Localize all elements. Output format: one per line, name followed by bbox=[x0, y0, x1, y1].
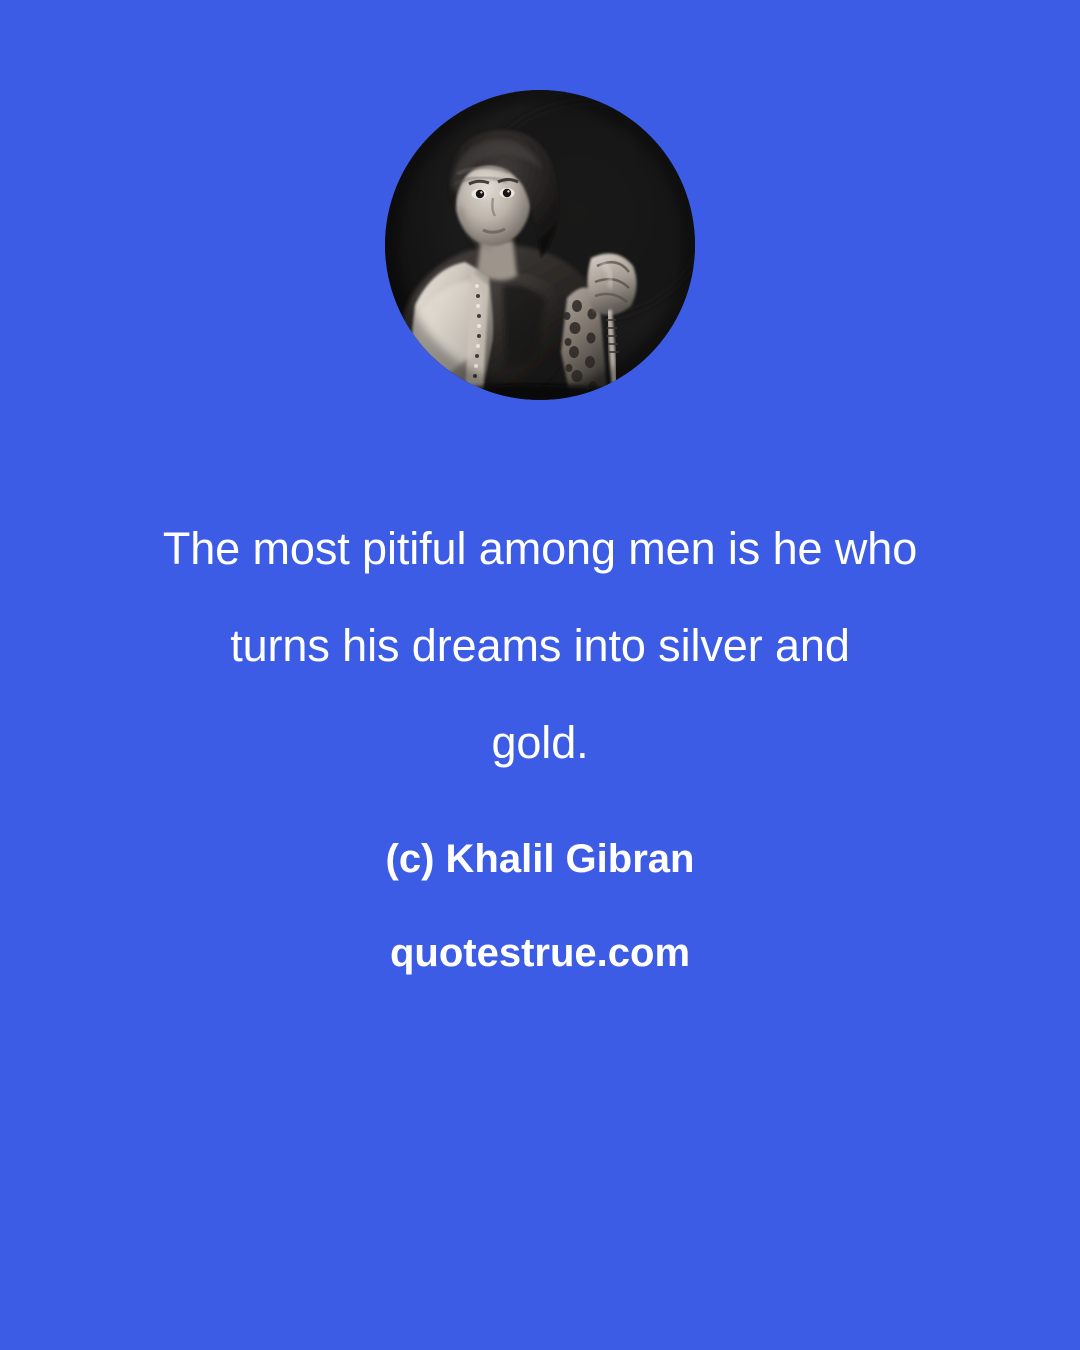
portrait-photo-icon bbox=[385, 90, 695, 400]
quote-line-1: The most pitiful among men is he who bbox=[0, 500, 1080, 597]
site-url: quotestrue.com bbox=[0, 933, 1080, 973]
quote-attribution: (c) Khalil Gibran bbox=[0, 839, 1080, 879]
quote-line-3: gold. bbox=[0, 694, 1080, 791]
portrait-photo bbox=[385, 90, 695, 400]
quote-card: The most pitiful among men is he who tur… bbox=[0, 0, 1080, 1350]
quote-text-block: The most pitiful among men is he who tur… bbox=[0, 500, 1080, 973]
quote-line-2: turns his dreams into silver and bbox=[0, 597, 1080, 694]
